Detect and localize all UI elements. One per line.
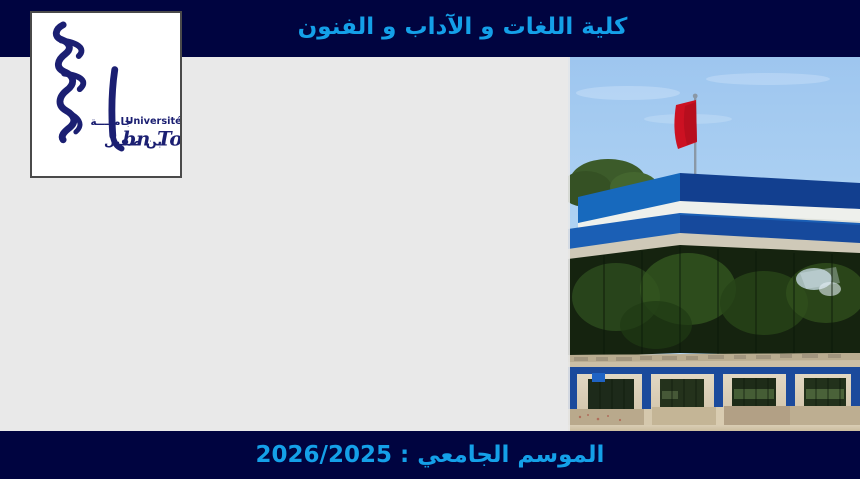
logo-latin-word: Université bbox=[125, 115, 180, 127]
presentation-slide: كلية اللغات و الآداب و الفنون جامعـــة ا… bbox=[0, 0, 860, 479]
faculty-building-photo bbox=[568, 57, 860, 431]
building-illustration bbox=[568, 57, 860, 431]
logo-latin-name: bn Tofaïl bbox=[123, 128, 180, 151]
academic-year-label: الموسم الجامعي : 2026/2025 bbox=[0, 431, 860, 479]
university-logo-card: جامعـــة ابن طفيل Université bn Tofaïl bbox=[30, 11, 182, 178]
ibn-tofail-logo-icon: جامعـــة ابن طفيل Université bn Tofaïl bbox=[32, 13, 180, 176]
page-title: كلية اللغات و الآداب و الفنون bbox=[190, 5, 735, 52]
